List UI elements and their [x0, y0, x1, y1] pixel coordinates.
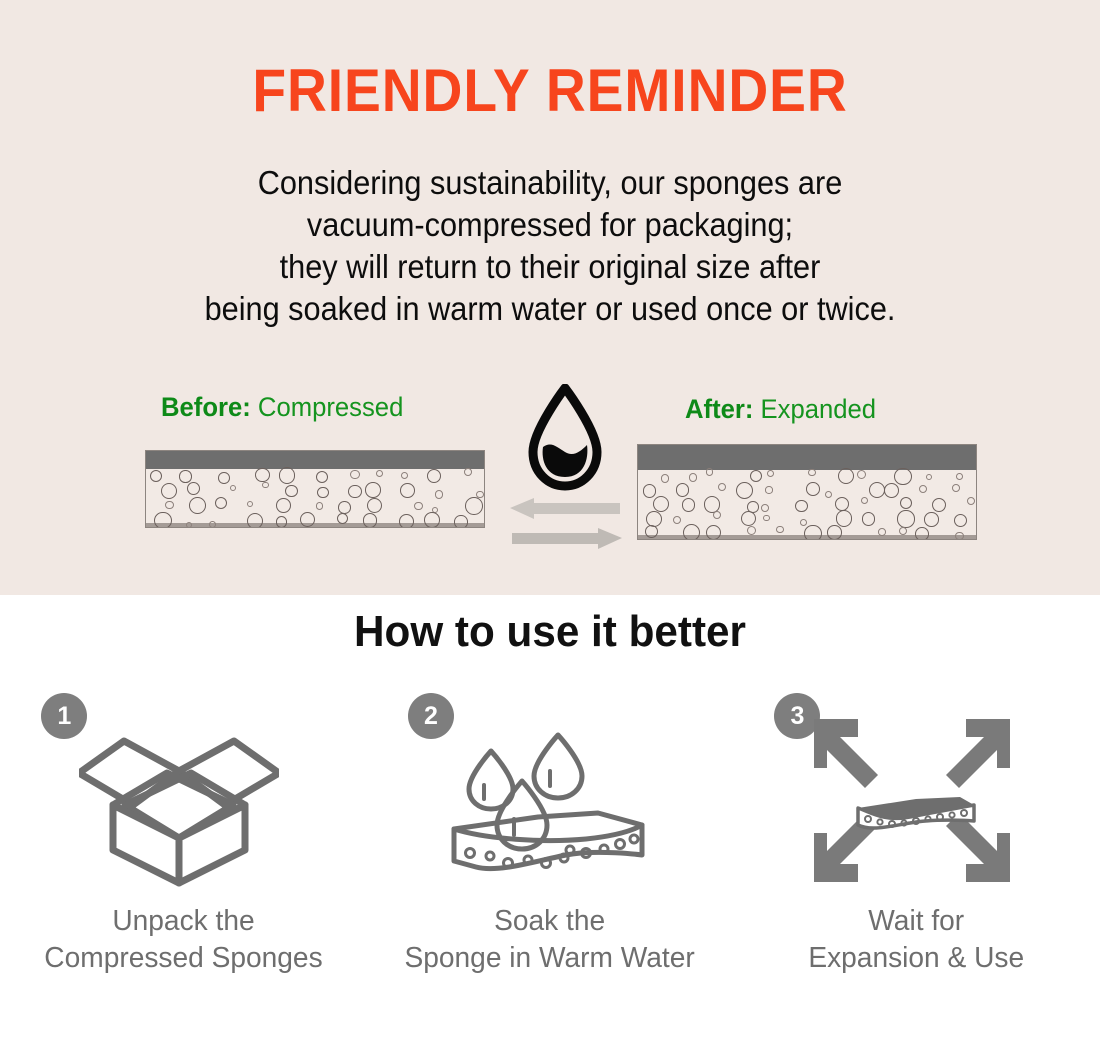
body-line-1: Considering sustainability, our sponges … — [39, 162, 1062, 204]
sponge-pore — [643, 484, 657, 498]
step-1-caption: Unpack the Compressed Sponges — [44, 903, 322, 977]
sponge-pore — [718, 483, 727, 492]
sponge-pore — [367, 498, 382, 513]
before-label-rest: Compressed — [258, 392, 403, 422]
step-2: 2 — [367, 691, 734, 977]
sponge-pore — [861, 497, 868, 504]
sponge-pore — [900, 497, 913, 510]
expanding-arrows-sponge-icon — [812, 713, 1012, 888]
sponge-pore — [279, 467, 295, 483]
compressed-sponge-illustration — [145, 450, 485, 528]
sponge-pore — [424, 512, 440, 528]
after-label: After: Expanded — [685, 394, 876, 425]
caption-line-2: Sponge in Warm Water — [405, 940, 695, 977]
sponge-pore — [399, 514, 414, 528]
open-box-icon — [79, 713, 279, 888]
sponge-pore — [747, 526, 756, 535]
sponge-pore — [878, 528, 886, 536]
sponge-pore — [209, 521, 216, 528]
sponge-pore — [835, 497, 849, 511]
sponge-pore — [899, 527, 907, 535]
arrow-right-icon — [512, 528, 622, 549]
sponge-pore — [350, 470, 359, 479]
sponge-pore — [862, 512, 875, 525]
sponge-crust — [638, 445, 976, 470]
sponge-pore — [454, 515, 467, 528]
sponge-pore — [435, 490, 443, 498]
sponge-pore — [189, 497, 206, 514]
exchange-arrows-icon — [510, 496, 622, 552]
body-line-4: being soaked in warm water or used once … — [39, 288, 1062, 330]
body-line-3: they will return to their original size … — [39, 246, 1062, 288]
reminder-body-text: Considering sustainability, our sponges … — [39, 162, 1062, 330]
friendly-reminder-panel: FRIENDLY REMINDER Considering sustainabi… — [0, 0, 1100, 595]
before-label-bold: Before: — [161, 392, 251, 422]
sponge-pore — [179, 470, 191, 482]
sponge-pore — [704, 496, 720, 512]
sponge-pore — [247, 501, 253, 507]
sponge-pore — [262, 482, 268, 488]
before-after-comparison: Before: Compressed After: Expanded — [0, 392, 1100, 562]
sponge-pore — [894, 468, 912, 486]
sponge-pore — [750, 470, 762, 482]
sponge-pore — [247, 513, 263, 528]
sponge-pore — [186, 522, 192, 528]
sponge-pore — [932, 498, 946, 512]
sponge-pore — [465, 497, 483, 515]
sponge-pore — [285, 485, 297, 497]
sponge-pore — [924, 512, 938, 526]
sponge-pore — [795, 500, 808, 513]
caption-line-1: Wait for — [809, 903, 1025, 940]
after-label-rest: Expanded — [761, 394, 877, 424]
sponge-crust — [146, 451, 484, 469]
sponge-pore — [857, 470, 866, 479]
step-1-art: 1 — [33, 691, 333, 891]
sponge-pore — [464, 468, 472, 476]
sponge-pore — [827, 525, 842, 540]
sponge-pore — [414, 502, 422, 510]
caption-line-2: Expansion & Use — [809, 940, 1025, 977]
sponge-pore — [230, 485, 237, 492]
sponge-pore — [761, 504, 769, 512]
sponge-pore — [673, 516, 681, 524]
how-to-use-panel: How to use it better 1 — [0, 595, 1100, 1039]
sponge-pore — [316, 471, 328, 483]
sponge-pore — [776, 526, 783, 533]
page-title: FRIENDLY REMINDER — [44, 56, 1056, 125]
sponge-pore — [825, 491, 832, 498]
sponge-pore — [800, 519, 807, 526]
sponge-pore — [215, 497, 227, 509]
sponge-pore — [317, 487, 329, 499]
arrow-down-right-icon — [946, 813, 1010, 882]
caption-line-1: Unpack the — [44, 903, 322, 940]
step-3-caption: Wait for Expansion & Use — [809, 903, 1025, 977]
sponge-pore — [926, 474, 932, 480]
sponge-pore — [836, 510, 853, 527]
sponge-pore — [401, 472, 408, 479]
sponge-pore — [348, 485, 362, 499]
step-2-art: 2 — [400, 691, 700, 891]
sponge-pore — [376, 470, 383, 477]
step-3: 3 — [733, 691, 1100, 977]
water-drop-icon — [527, 384, 603, 492]
sponge-pore — [363, 513, 377, 527]
sponge-pore — [765, 486, 772, 493]
caption-line-1: Soak the — [405, 903, 695, 940]
sponge-pore — [967, 497, 975, 505]
expanded-sponge-illustration — [637, 444, 977, 540]
sponge-pore — [682, 498, 696, 512]
sponge-pore — [427, 469, 441, 483]
arrow-up-right-icon — [946, 719, 1010, 788]
howto-title: How to use it better — [22, 607, 1078, 657]
sponge-pore — [365, 482, 381, 498]
sponge-pore — [338, 501, 351, 514]
water-drops-on-sponge-icon — [446, 713, 646, 888]
sponge-pore — [915, 527, 929, 540]
sponge-pore — [150, 470, 162, 482]
sponge-pore — [955, 532, 963, 540]
sponge-pore — [838, 468, 854, 484]
sponge-pore — [763, 515, 769, 521]
arrow-up-left-icon — [814, 719, 878, 788]
step-1: 1 Unpack the — [0, 691, 367, 977]
sponge-pore — [276, 516, 288, 528]
sponge-pore — [400, 483, 415, 498]
sponge-pore — [952, 484, 960, 492]
sponge-pore — [956, 473, 963, 480]
sponge-pore — [316, 502, 324, 510]
body-line-2: vacuum-compressed for packaging; — [39, 204, 1062, 246]
sponge-pore — [806, 482, 820, 496]
sponge-pore — [954, 514, 967, 527]
sponge-pore — [736, 482, 754, 500]
sponge-pore — [653, 496, 669, 512]
caption-line-2: Compressed Sponges — [44, 940, 322, 977]
sponge-pore — [767, 470, 774, 477]
sponge-pore — [804, 525, 822, 540]
sponge-pore — [255, 468, 269, 482]
before-label: Before: Compressed — [161, 392, 403, 423]
sponge-pore — [187, 482, 200, 495]
sponge-pore — [161, 483, 177, 499]
sponge-pore — [676, 483, 689, 496]
sponge-pore — [165, 501, 174, 510]
sponge-pore — [808, 469, 815, 476]
sponge-pore — [897, 510, 914, 527]
step-2-caption: Soak the Sponge in Warm Water — [405, 903, 695, 977]
sponge-pore — [661, 474, 669, 482]
sponge-pore — [683, 524, 700, 540]
sponge-pore — [689, 473, 698, 482]
sponge-pore — [706, 468, 714, 476]
after-label-bold: After: — [685, 394, 753, 424]
sponge-pore — [884, 483, 899, 498]
sponge-pore — [276, 498, 291, 513]
transition-icons — [505, 392, 625, 552]
sponge-pore — [741, 511, 756, 526]
howto-steps: 1 Unpack the — [0, 691, 1100, 977]
step-3-art: 3 — [766, 691, 1066, 891]
sponge-pore — [154, 512, 171, 528]
sponge-pore — [218, 472, 230, 484]
arrow-left-icon — [510, 498, 620, 519]
sponge-pore — [919, 485, 928, 494]
sponge-pore — [713, 511, 721, 519]
